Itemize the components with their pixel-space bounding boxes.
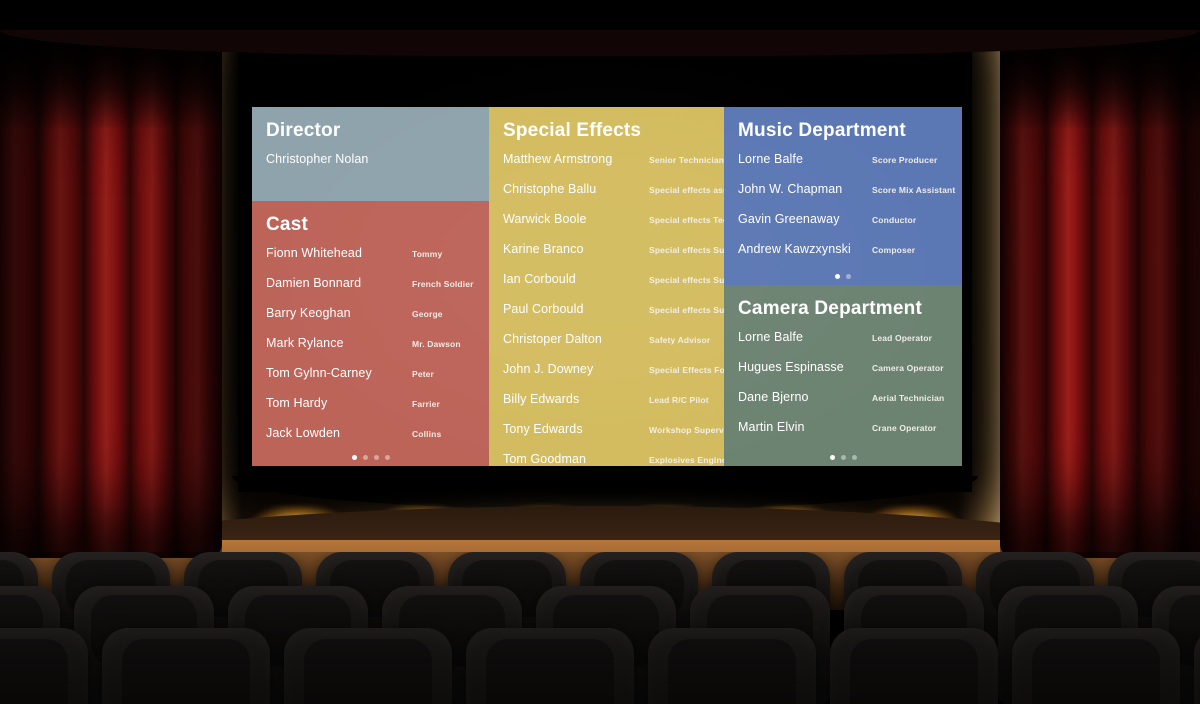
theater-seat — [466, 628, 634, 704]
credit-rows-music-department: Lorne BalfeScore ProducerJohn W. Chapman… — [724, 152, 962, 272]
credit-person-name: Christoper Dalton — [503, 332, 649, 346]
stage-curtain-left — [0, 38, 222, 558]
credit-person-role: Lead Operator — [872, 333, 932, 343]
credit-row[interactable]: Hugues EspinasseCamera Operator — [738, 360, 948, 390]
credit-person-role: Special effects Supervisor — [649, 275, 724, 285]
credit-person-role: Conductor — [872, 215, 916, 225]
credit-person-name: Dane Bjerno — [738, 390, 872, 404]
credit-person-name: Ian Corbould — [503, 272, 649, 286]
pagination-dot[interactable] — [830, 455, 835, 460]
credit-person-name: Paul Corbould — [503, 302, 649, 316]
credit-rows-camera-department: Lorne BalfeLead OperatorHugues Espinasse… — [724, 330, 962, 450]
credit-person-name: Hugues Espinasse — [738, 360, 872, 374]
credit-person-role: Special effects assistant — [649, 185, 724, 195]
credit-person-role: Crane Operator — [872, 423, 936, 433]
credit-person-name: Tony Edwards — [503, 422, 649, 436]
credit-row[interactable]: Christophe BalluSpecial effects assistan… — [503, 182, 710, 212]
panel-title-camera-department: Camera Department — [724, 285, 962, 330]
credit-row[interactable]: Dane BjernoAerial Technician — [738, 390, 948, 420]
curtain-top-shadow — [1000, 38, 1200, 128]
credit-person-role: Camera Operator — [872, 363, 944, 373]
credit-rows-director: Christopher Nolan — [252, 152, 489, 182]
panel-camera-department: Camera DepartmentLorne BalfeLead Operato… — [724, 285, 962, 466]
credit-person-role: Mr. Dawson — [412, 339, 461, 349]
credit-person-name: Christopher Nolan — [266, 152, 412, 166]
credit-person-name: Lorne Balfe — [738, 330, 872, 344]
pagination-dot[interactable] — [841, 455, 846, 460]
panel-cast: CastFionn WhiteheadTommyDamien BonnardFr… — [252, 201, 489, 466]
credit-person-role: Aerial Technician — [872, 393, 944, 403]
theater-seat — [830, 628, 998, 704]
credit-person-role: Special Effects Foreman — [649, 365, 724, 375]
panel-title-music-department: Music Department — [724, 107, 962, 152]
credit-row[interactable]: Lorne BalfeScore Producer — [738, 152, 948, 182]
pagination-dot[interactable] — [846, 274, 851, 279]
credit-row[interactable]: Tom HardyFarrier — [266, 396, 475, 426]
credit-person-role: Special effects Technician — [649, 215, 724, 225]
credit-person-name: Gavin Greenaway — [738, 212, 872, 226]
credit-row[interactable]: Warwick BooleSpecial effects Technician — [503, 212, 710, 242]
credit-person-name: Billy Edwards — [503, 392, 649, 406]
credit-row[interactable]: Damien BonnardFrench Soldier — [266, 276, 475, 306]
credit-person-role: Safety Advisor — [649, 335, 710, 345]
theater-seat — [1194, 628, 1200, 704]
credit-row[interactable]: Tom Gylnn-CarneyPeter — [266, 366, 475, 396]
credit-person-name: John W. Chapman — [738, 182, 872, 196]
panel-director: DirectorChristopher Nolan — [252, 107, 489, 201]
panel-music-department: Music DepartmentLorne BalfeScore Produce… — [724, 107, 962, 285]
credit-person-role: Peter — [412, 369, 434, 379]
credit-row[interactable]: Tom GoodmanExplosives Engineer — [503, 452, 710, 466]
credit-row[interactable]: Mark RylanceMr. Dawson — [266, 336, 475, 366]
panel-special-effects: Special EffectsMatthew ArmstrongSenior T… — [489, 107, 724, 466]
credit-person-name: Warwick Boole — [503, 212, 649, 226]
pagination-dots-cast[interactable] — [252, 455, 489, 460]
theater-seat — [648, 628, 816, 704]
credit-row[interactable]: John W. ChapmanScore Mix Assistant — [738, 182, 948, 212]
credit-person-role: Lead R/C Pilot — [649, 395, 709, 405]
credit-person-name: Andrew Kawzxynski — [738, 242, 872, 256]
column-right: Music DepartmentLorne BalfeScore Produce… — [724, 107, 962, 466]
pagination-dots-music-department[interactable] — [724, 274, 962, 279]
pagination-dot[interactable] — [374, 455, 379, 460]
pagination-dot[interactable] — [385, 455, 390, 460]
credit-person-role: Special effects Supervisor — [649, 305, 724, 315]
credit-row[interactable]: Christoper DaltonSafety Advisor — [503, 332, 710, 362]
seat-row — [0, 628, 1200, 704]
credit-row[interactable]: Matthew ArmstrongSenior Technician — [503, 152, 710, 182]
credit-person-name: Fionn Whitehead — [266, 246, 412, 260]
pagination-dots-camera-department[interactable] — [724, 455, 962, 460]
audience-seating — [0, 552, 1200, 704]
credit-person-role: Workshop Supervisor — [649, 425, 724, 435]
credit-person-role: Score Producer — [872, 155, 937, 165]
credit-row[interactable]: Billy EdwardsLead R/C Pilot — [503, 392, 710, 422]
credit-person-role: George — [412, 309, 443, 319]
end-credits-board: DirectorChristopher NolanCastFionn White… — [252, 107, 962, 466]
theater-seat — [102, 628, 270, 704]
credit-row[interactable]: Christopher Nolan — [266, 152, 475, 182]
credit-person-name: Tom Goodman — [503, 452, 649, 466]
credit-row[interactable]: Fionn WhiteheadTommy — [266, 246, 475, 276]
pagination-dot[interactable] — [352, 455, 357, 460]
theater-seat — [0, 628, 88, 704]
credit-row[interactable]: Karine BrancoSpecial effects Supervisor — [503, 242, 710, 272]
credit-person-name: Lorne Balfe — [738, 152, 872, 166]
credit-person-name: Mark Rylance — [266, 336, 412, 350]
credit-person-name: Barry Keoghan — [266, 306, 412, 320]
credit-row[interactable]: Barry KeoghanGeorge — [266, 306, 475, 336]
credit-person-name: Tom Gylnn-Carney — [266, 366, 412, 380]
credit-row[interactable]: Ian CorbouldSpecial effects Supervisor — [503, 272, 710, 302]
credit-row[interactable]: Martin ElvinCrane Operator — [738, 420, 948, 450]
theater-seat — [284, 628, 452, 704]
credit-person-name: Martin Elvin — [738, 420, 872, 434]
theater-seat — [1012, 628, 1180, 704]
panel-title-director: Director — [252, 107, 489, 152]
credit-row[interactable]: Jack LowdenCollins — [266, 426, 475, 456]
credit-row[interactable]: John J. DowneySpecial Effects Foreman — [503, 362, 710, 392]
credit-person-name: Karine Branco — [503, 242, 649, 256]
credit-rows-cast: Fionn WhiteheadTommyDamien BonnardFrench… — [252, 246, 489, 456]
column-middle: Special EffectsMatthew ArmstrongSenior T… — [489, 107, 724, 466]
credit-person-name: John J. Downey — [503, 362, 649, 376]
credit-person-role: Senior Technician — [649, 155, 724, 165]
panel-title-special-effects: Special Effects — [489, 107, 724, 152]
pagination-dot[interactable] — [363, 455, 368, 460]
credit-person-name: Tom Hardy — [266, 396, 412, 410]
curtain-top-shadow — [0, 38, 222, 128]
panel-title-cast: Cast — [252, 201, 489, 246]
credit-rows-special-effects: Matthew ArmstrongSenior TechnicianChrist… — [489, 152, 724, 466]
credit-person-role: Composer — [872, 245, 915, 255]
credit-person-role: Farrier — [412, 399, 440, 409]
column-left: DirectorChristopher NolanCastFionn White… — [252, 107, 489, 466]
credit-person-role: Collins — [412, 429, 441, 439]
credit-row[interactable]: Andrew KawzxynskiComposer — [738, 242, 948, 272]
credit-row[interactable]: Paul CorbouldSpecial effects Supervisor — [503, 302, 710, 332]
pagination-dot[interactable] — [835, 274, 840, 279]
credit-row[interactable]: Lorne BalfeLead Operator — [738, 330, 948, 360]
credit-person-role: Explosives Engineer — [649, 455, 724, 465]
credit-person-name: Jack Lowden — [266, 426, 412, 440]
credit-person-role: Special effects Supervisor — [649, 245, 724, 255]
stage-curtain-right — [1000, 38, 1200, 558]
credit-person-role: Score Mix Assistant — [872, 185, 955, 195]
credit-person-name: Damien Bonnard — [266, 276, 412, 290]
pagination-dot[interactable] — [852, 455, 857, 460]
credit-person-role: Tommy — [412, 249, 442, 259]
credit-person-role: French Soldier — [412, 279, 474, 289]
credit-row[interactable]: Tony EdwardsWorkshop Supervisor — [503, 422, 710, 452]
credit-row[interactable]: Gavin GreenawayConductor — [738, 212, 948, 242]
credit-person-name: Christophe Ballu — [503, 182, 649, 196]
credit-person-name: Matthew Armstrong — [503, 152, 649, 166]
